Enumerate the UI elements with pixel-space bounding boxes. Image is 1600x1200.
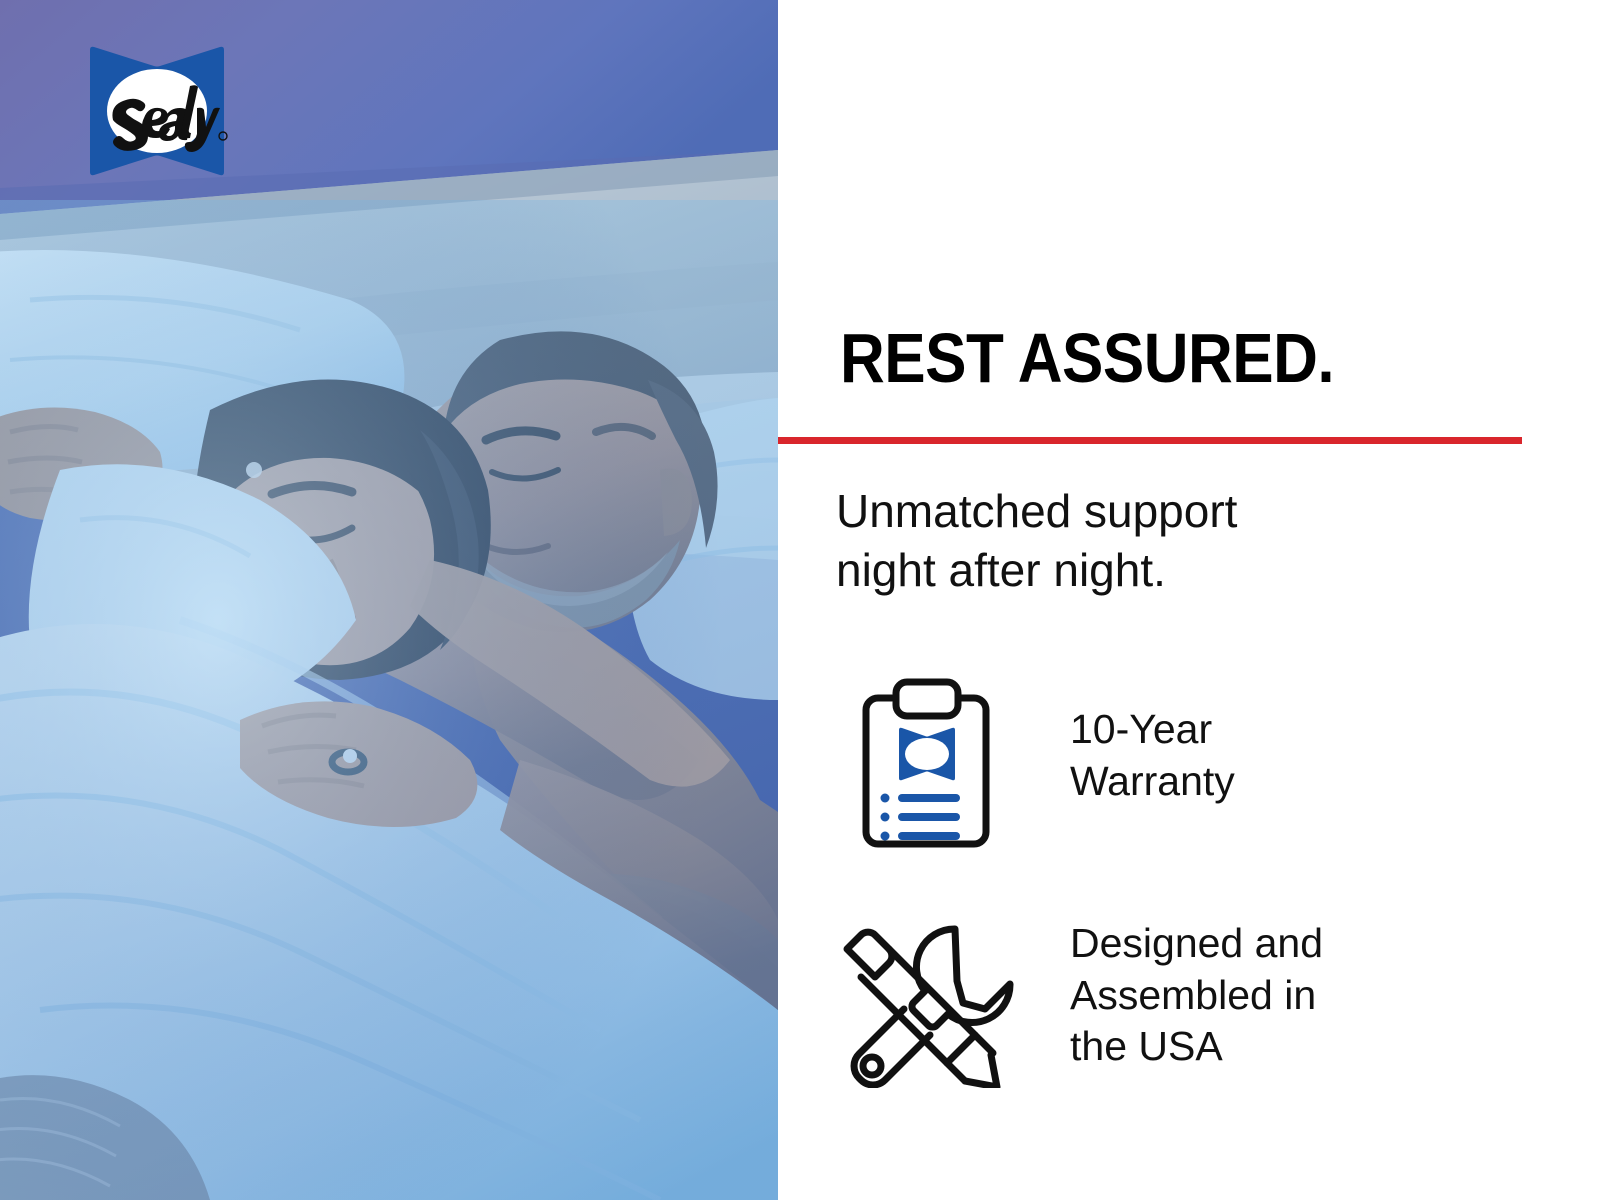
feature-warranty: 10-Year Warranty: [832, 658, 1235, 873]
copy-panel: REST ASSURED. Unmatched support night af…: [778, 0, 1600, 1200]
subheadline: Unmatched support night after night.: [836, 482, 1396, 600]
red-divider-rule: [778, 437, 1522, 444]
pencil-wrench-tools-icon: [810, 908, 1040, 1093]
sealy-bowtie-logo-icon: [84, 44, 230, 178]
feature-usa-line-2: Assembled in: [1070, 970, 1323, 1022]
sealy-logo: [84, 44, 230, 178]
feature-usa-line-3: the USA: [1070, 1021, 1323, 1073]
feature-made-in-usa-text: Designed and Assembled in the USA: [1070, 908, 1323, 1073]
feature-warranty-line-1: 10-Year: [1070, 704, 1235, 756]
clipboard-warranty-icon: [832, 658, 1022, 873]
bedroom-photo: [0, 0, 778, 1200]
feature-made-in-usa: Designed and Assembled in the USA: [810, 908, 1323, 1093]
sealy-rest-assured-ad: REST ASSURED. Unmatched support night af…: [0, 0, 1600, 1200]
subheadline-line-1: Unmatched support: [836, 482, 1396, 541]
bedroom-photo-illustration: [0, 0, 778, 1200]
subheadline-line-2: night after night.: [836, 541, 1396, 600]
feature-warranty-line-2: Warranty: [1070, 756, 1235, 808]
headline: REST ASSURED.: [840, 325, 1334, 394]
feature-usa-line-1: Designed and: [1070, 918, 1323, 970]
feature-warranty-text: 10-Year Warranty: [1070, 658, 1235, 807]
